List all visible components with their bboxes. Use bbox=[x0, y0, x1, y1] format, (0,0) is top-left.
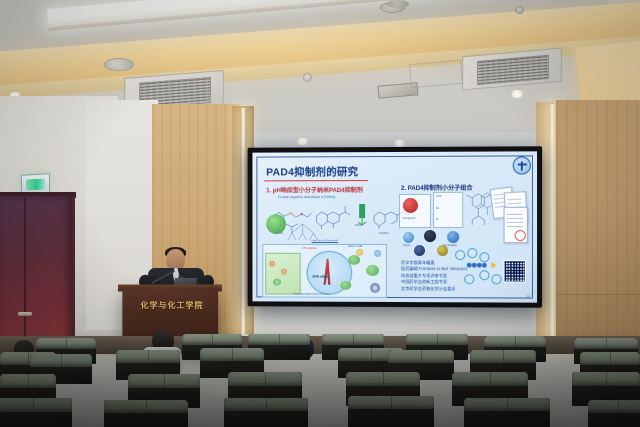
doc-line bbox=[507, 203, 522, 204]
headrest-seam bbox=[437, 334, 438, 345]
wall-wood-panel-right bbox=[556, 100, 640, 350]
headrest-seam bbox=[490, 372, 491, 386]
assay-label: IC50 bbox=[436, 195, 441, 198]
compound-caption: Target bbox=[403, 244, 410, 247]
headrest-seam bbox=[371, 348, 372, 361]
recessed-downlight bbox=[510, 90, 524, 98]
compound-marker-red bbox=[403, 198, 418, 213]
headrest-seam bbox=[618, 400, 619, 413]
auditorium-seat bbox=[0, 398, 72, 427]
structure-label: Citrulline bbox=[379, 232, 389, 235]
assay-label: Kd bbox=[436, 207, 439, 210]
compound-caption: Combination bbox=[443, 244, 457, 247]
door-center-seam bbox=[24, 198, 26, 344]
headrest-seam bbox=[265, 372, 266, 386]
headrest-seam bbox=[503, 350, 504, 363]
ceiling-speaker bbox=[387, 0, 409, 8]
slide-section-2-heading: 2. PAD4抑制剂小分子组合 bbox=[401, 183, 473, 192]
smoke-detector bbox=[303, 73, 312, 82]
ceiling-speaker bbox=[104, 58, 134, 71]
compound-circle bbox=[414, 245, 425, 256]
flow-arrow-icon bbox=[491, 262, 496, 268]
headrest-seam bbox=[507, 398, 508, 411]
mechanism-figure: EPR effect pH response CD4+ T cells Tumo… bbox=[262, 244, 387, 298]
molecule-icon bbox=[281, 269, 287, 275]
auditorium-seat bbox=[224, 398, 308, 427]
headrest-seam bbox=[421, 350, 422, 363]
wall-light-strip bbox=[240, 108, 247, 334]
presentation-screen: PAD4抑制剂的研究 1. pH响应型小分子纳米PAD4抑制剂 Protein … bbox=[252, 151, 537, 302]
seat-headrest bbox=[0, 398, 72, 412]
tcell-label: CD4+ T cells bbox=[348, 245, 362, 248]
auditorium-seat bbox=[464, 398, 550, 427]
credential-line: 医药编辑 Frontiers in Mol. Neurosci. bbox=[401, 266, 468, 273]
molecule-icon bbox=[269, 261, 275, 267]
headrest-seam bbox=[232, 348, 233, 361]
vent-grille bbox=[477, 55, 549, 85]
immune-cell-icon bbox=[348, 255, 360, 265]
exit-sign-glow bbox=[26, 179, 45, 191]
auditorium-seat bbox=[588, 400, 640, 427]
molecule-icon bbox=[273, 279, 281, 286]
headrest-seam bbox=[28, 352, 29, 365]
headrest-seam bbox=[383, 372, 384, 386]
doc-line bbox=[506, 218, 522, 219]
door-handle[interactable] bbox=[18, 312, 32, 316]
compound-circle bbox=[403, 232, 414, 243]
nanoparticle-cluster-icon bbox=[266, 214, 286, 234]
auditorium-seat bbox=[348, 396, 434, 427]
compound-label: Compound bbox=[403, 217, 415, 220]
patent-document bbox=[504, 207, 528, 243]
headrest-seam bbox=[279, 334, 280, 345]
crest-cross-mark bbox=[517, 161, 526, 170]
door-left[interactable] bbox=[0, 196, 75, 346]
tcell-icon bbox=[356, 249, 363, 256]
podium-institution-label: 化学与化工学院 bbox=[132, 300, 212, 311]
presentation-screen-bezel: PAD4抑制剂的研究 1. pH响应型小分子纳米PAD4抑制剂 Protein … bbox=[248, 146, 543, 307]
headrest-seam bbox=[146, 400, 147, 413]
headrest-seam bbox=[391, 396, 392, 409]
tcell-icon bbox=[374, 250, 381, 257]
molecule-ring-icon bbox=[455, 250, 465, 260]
doc-line bbox=[507, 198, 522, 199]
recessed-downlight bbox=[393, 140, 406, 147]
credential-line: 北京药学会药物化学分会委员 bbox=[401, 286, 468, 293]
compound-circle bbox=[424, 230, 436, 242]
branching-dendrimer-diagram bbox=[286, 224, 320, 242]
combination-flow-diagram bbox=[466, 260, 490, 270]
smoke-detector bbox=[515, 6, 524, 14]
headrest-seam bbox=[28, 374, 29, 388]
wood-panel-seam bbox=[556, 294, 640, 295]
headrest-seam bbox=[212, 334, 213, 345]
headrest-seam bbox=[66, 338, 67, 349]
seat-headrest bbox=[588, 400, 640, 413]
lecture-hall-photo: PAD4抑制剂的研究 1. pH响应型小分子纳米PAD4抑制剂 Protein … bbox=[0, 0, 640, 427]
wall-light-strip bbox=[549, 104, 556, 352]
structure-label: PAD4 bbox=[355, 224, 361, 227]
doc-line bbox=[506, 226, 522, 227]
molecule-ring-icon bbox=[479, 270, 489, 280]
doc-line bbox=[506, 222, 522, 223]
headrest-seam bbox=[61, 354, 62, 367]
headrest-seam bbox=[606, 338, 607, 349]
qr-code[interactable] bbox=[504, 260, 526, 282]
ph-response-label: pH response bbox=[303, 247, 317, 250]
headrest-seam bbox=[610, 352, 611, 365]
university-crest-icon bbox=[513, 156, 531, 174]
recessed-downlight bbox=[296, 138, 309, 145]
assay-label: Ki bbox=[436, 218, 438, 221]
molecule-ring-icon bbox=[467, 248, 477, 258]
epr-effect-label: EPR effect bbox=[313, 275, 329, 279]
official-seal-icon bbox=[515, 230, 526, 241]
slide-section-1-subcaption: Protein arginine deiminase 4 (PAD4) bbox=[278, 195, 335, 199]
compound-circle bbox=[447, 231, 459, 243]
headrest-seam bbox=[33, 398, 34, 412]
slide-page-number: 14 bbox=[526, 295, 530, 299]
headrest-seam bbox=[148, 350, 149, 363]
chemical-structure-diagram bbox=[314, 200, 354, 230]
headrest-seam bbox=[515, 336, 516, 347]
headrest-seam bbox=[606, 372, 607, 386]
headrest-seam bbox=[353, 334, 354, 345]
molecule-ring-icon bbox=[491, 274, 501, 284]
reaction-arrow-icon bbox=[354, 204, 370, 226]
auditorium-seat bbox=[104, 400, 188, 427]
molecule-ring-icon bbox=[479, 252, 489, 262]
figure-caption: Tumor-associated microenvironment bbox=[293, 294, 330, 296]
slide-title: PAD4抑制剂的研究 bbox=[266, 164, 358, 179]
immune-cell-icon bbox=[340, 281, 351, 290]
nanoparticle-icon bbox=[370, 283, 380, 293]
ceiling-panel-seam bbox=[409, 60, 463, 88]
headrest-seam bbox=[266, 398, 267, 411]
slide-section-1-heading: 1. pH响应型小分子纳米PAD4抑制剂 bbox=[266, 185, 363, 194]
credentials-block: 药学学报青年编委 医药编辑 Frontiers in Mol. Neurosci… bbox=[401, 260, 468, 292]
headrest-seam bbox=[164, 374, 165, 388]
doc-line bbox=[506, 214, 522, 215]
immune-cell-icon bbox=[366, 265, 379, 276]
